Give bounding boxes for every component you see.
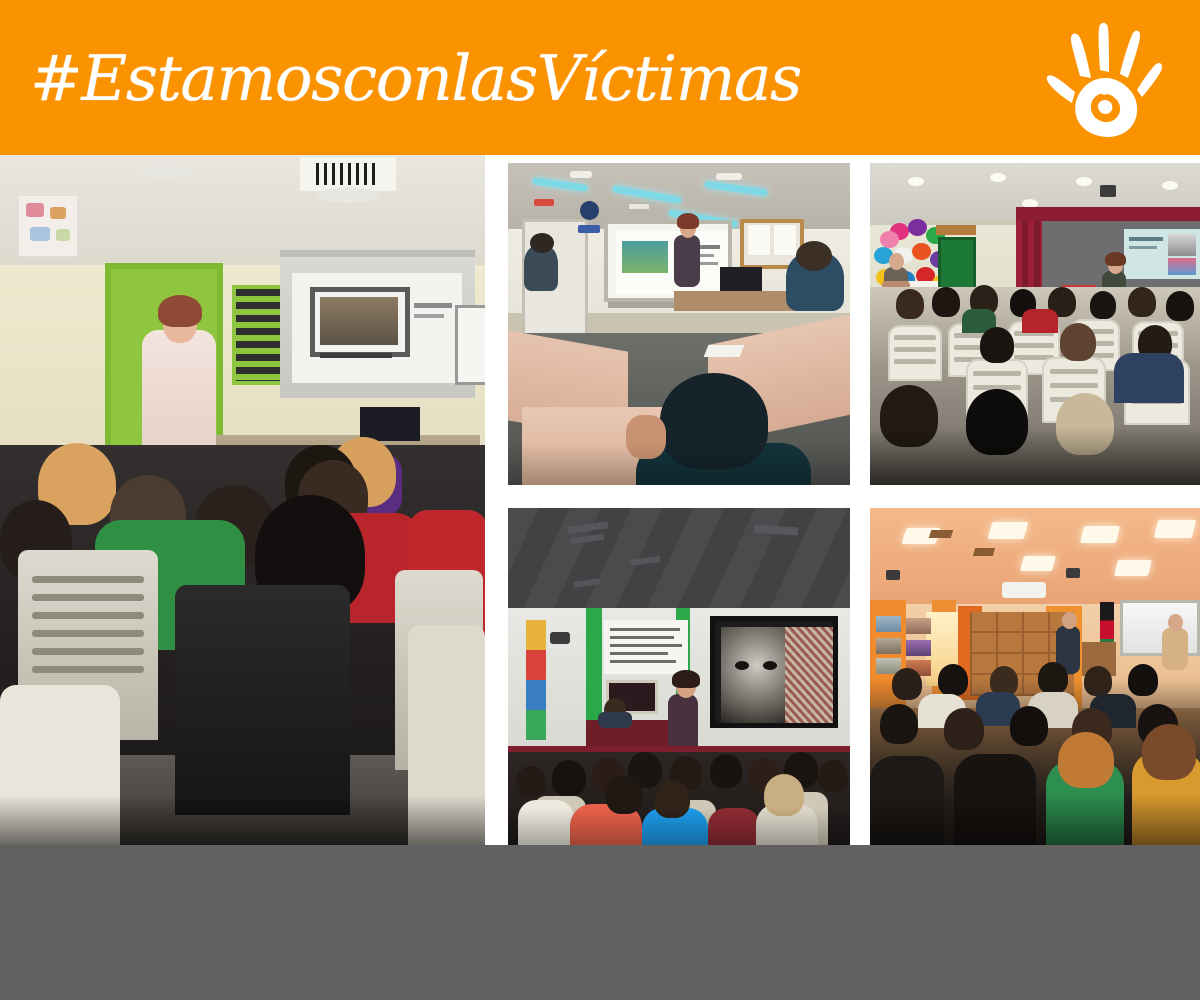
footer-bar: PROYECTO #EstamosconlasVíctimas Sección:… [0,845,1200,1000]
poster-root: #EstamosconlasVíctimas [0,0,1200,1000]
photo-assembly-hall-projection-face [508,508,850,845]
photo-classroom-talk-green-door [0,155,485,845]
photo-auditorium-balloons-presentation [870,163,1200,485]
page-title: #EstamosconlasVíctimas [30,28,1030,128]
white-handprint-icon [1044,18,1164,140]
photo-library-hall-conference [870,508,1200,845]
header-banner: #EstamosconlasVíctimas [0,0,1200,155]
photo-classroom-whiteboard-session [508,163,850,485]
photo-collage [0,155,1200,845]
